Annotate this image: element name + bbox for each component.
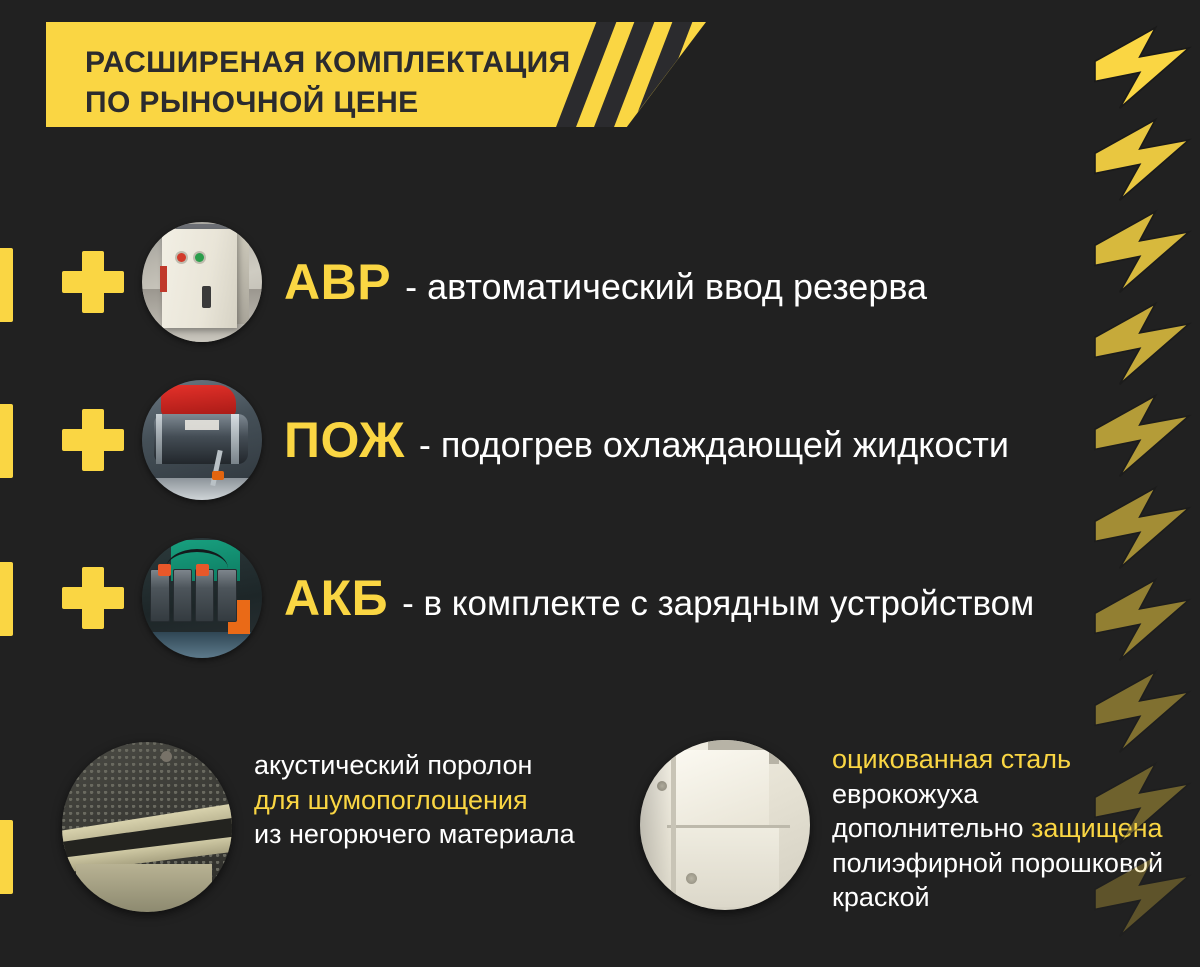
caption-line: акустический поролон [254,748,575,783]
feature-abbr: АКБ [284,573,388,623]
left-tab-marker-4 [0,820,13,894]
atr-cabinet-photo [142,222,262,342]
page-title: РАСШИРЕНАЯ КОМПЛЕКТАЦИЯ ПО РЫНОЧНОЙ ЦЕНЕ [85,43,571,123]
acoustic-foam-photo [62,742,232,912]
feature-abbr: АВР [284,257,391,307]
feature-abbr: ПОЖ [284,415,405,465]
feature-row-pozh: ПОЖ - подогрев охлаждающей жидкости [62,380,1009,500]
lightning-bolt-icon [1086,840,1198,952]
plus-icon [62,409,124,471]
banner-stripes [556,22,706,127]
feature-desc: - автоматический ввод резерва [405,269,927,305]
caption-text: дополнительно [832,813,1031,843]
feature-row-akb: АКБ - в комплекте с зарядным устройством [62,538,1034,658]
plus-icon [62,251,124,313]
feature-desc: - в комплекте с зарядным устройством [402,586,1034,621]
left-tab-marker-1 [0,248,13,322]
battery-bank-photo [142,538,262,658]
left-tab-marker-3 [0,562,13,636]
caption-line-highlight: для шумопоглощения [254,783,575,818]
foam-caption: акустический поролон для шумопоглощения … [254,742,575,852]
left-tab-marker-2 [0,404,13,478]
slide-root: РАСШИРЕНАЯ КОМПЛЕКТАЦИЯ ПО РЫНОЧНОЙ ЦЕНЕ… [0,0,1200,967]
caption-line: из негорючего материала [254,817,575,852]
plus-icon [62,567,124,629]
galvanized-steel-photo [640,740,810,910]
bottom-block-foam: акустический поролон для шумопоглощения … [62,742,575,912]
coolant-preheater-photo [142,380,262,500]
feature-row-avr: АВР - автоматический ввод резерва [62,222,927,342]
lightning-bolt-column [1080,0,1200,967]
feature-desc: - подогрев охлаждающей жидкости [419,427,1009,463]
header-banner: РАСШИРЕНАЯ КОМПЛЕКТАЦИЯ ПО РЫНОЧНОЙ ЦЕНЕ [46,22,706,127]
